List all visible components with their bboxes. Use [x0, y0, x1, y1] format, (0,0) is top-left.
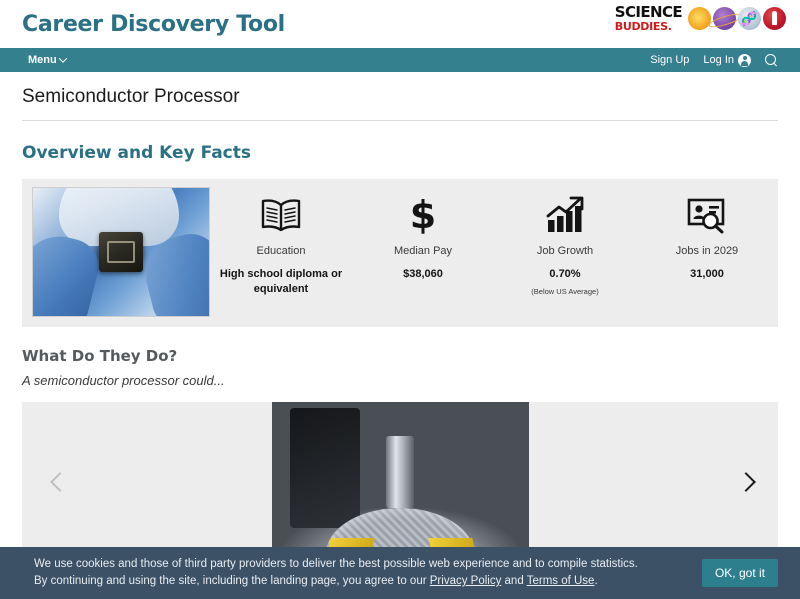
- dna-icon: [738, 7, 761, 30]
- log-in-label: Log In: [703, 54, 734, 66]
- site-header: Career Discovery Tool SCIENCE BUDDIES.: [0, 0, 800, 48]
- carousel-next-button[interactable]: [730, 466, 762, 498]
- science-buddies-logo[interactable]: SCIENCE BUDDIES.: [615, 5, 786, 32]
- brand-title: Career Discovery Tool: [22, 12, 285, 37]
- key-facts-panel: Education High school diploma or equival…: [22, 179, 778, 327]
- cookie-accept-button[interactable]: OK, got it: [702, 559, 778, 587]
- nav-bar: Menu Sign Up Log In: [0, 48, 800, 72]
- fact-value: High school diploma or equivalent: [210, 267, 352, 297]
- fact-note: (Below US Average): [494, 287, 636, 296]
- cookie-line-2-a: By continuing and using the site, includ…: [34, 575, 430, 587]
- photo-chip: [99, 232, 143, 272]
- menu-button[interactable]: Menu: [28, 54, 66, 66]
- carousel-slide-image: [272, 402, 529, 562]
- cookie-line-2-c: .: [594, 575, 597, 587]
- career-photo: [32, 187, 210, 317]
- open-book-icon: [210, 193, 352, 237]
- logo-buddies-text: BUDDIES.: [615, 21, 682, 32]
- career-carousel: [22, 402, 778, 562]
- person-icon: [738, 54, 751, 67]
- fact-median-pay: $ Median Pay $38,060: [352, 187, 494, 282]
- page-title: Semiconductor Processor: [22, 86, 800, 108]
- cookie-banner: We use cookies and those of third party …: [0, 547, 800, 599]
- svg-text:$: $: [410, 194, 436, 236]
- fact-value: 0.70%: [494, 267, 636, 282]
- slide-machine-arm: [290, 408, 360, 528]
- chevron-down-icon: [58, 54, 66, 62]
- slide-probe: [386, 436, 414, 508]
- nav-right-group: Sign Up Log In: [650, 54, 778, 67]
- page-title-wrap: Semiconductor Processor: [0, 72, 800, 120]
- cookie-line-2-b: and: [501, 575, 526, 587]
- logo-wordmark: SCIENCE BUDDIES.: [615, 5, 682, 32]
- chevron-right-icon: [736, 472, 756, 492]
- logo-orbs: [688, 7, 786, 30]
- sun-icon: [688, 7, 711, 30]
- title-divider: [22, 120, 778, 121]
- menu-label: Menu: [28, 54, 57, 66]
- fact-job-growth: Job Growth 0.70% (Below US Average): [494, 187, 636, 296]
- job-search-badge-icon: [636, 193, 778, 237]
- privacy-policy-link[interactable]: Privacy Policy: [430, 575, 502, 587]
- carousel-prev-button[interactable]: [44, 466, 76, 498]
- fact-jobs-2029: Jobs in 2029 31,000: [636, 187, 778, 282]
- sign-up-link[interactable]: Sign Up: [650, 54, 689, 66]
- fact-label: Median Pay: [352, 245, 494, 257]
- cookie-line-1: We use cookies and those of third party …: [34, 558, 638, 570]
- logo-science-text: SCIENCE: [615, 5, 682, 20]
- cookie-banner-text: We use cookies and those of third party …: [34, 556, 638, 589]
- overview-heading: Overview and Key Facts: [22, 143, 800, 163]
- fact-label: Education: [210, 245, 352, 257]
- fact-label: Jobs in 2029: [636, 245, 778, 257]
- rocket-icon: [763, 7, 786, 30]
- what-do-they-do-heading: What Do They Do?: [22, 347, 800, 365]
- fact-value: $38,060: [352, 267, 494, 282]
- planet-icon: [713, 7, 736, 30]
- growth-chart-icon: [494, 193, 636, 237]
- fact-value: 31,000: [636, 267, 778, 282]
- search-icon[interactable]: [765, 54, 778, 67]
- terms-of-use-link[interactable]: Terms of Use: [527, 575, 595, 587]
- what-do-they-do-subtitle: A semiconductor processor could...: [22, 373, 800, 388]
- fact-label: Job Growth: [494, 245, 636, 257]
- chevron-left-icon: [50, 472, 70, 492]
- log-in-link[interactable]: Log In: [703, 54, 751, 67]
- fact-education: Education High school diploma or equival…: [210, 187, 352, 297]
- dollar-sign-icon: $: [352, 193, 494, 237]
